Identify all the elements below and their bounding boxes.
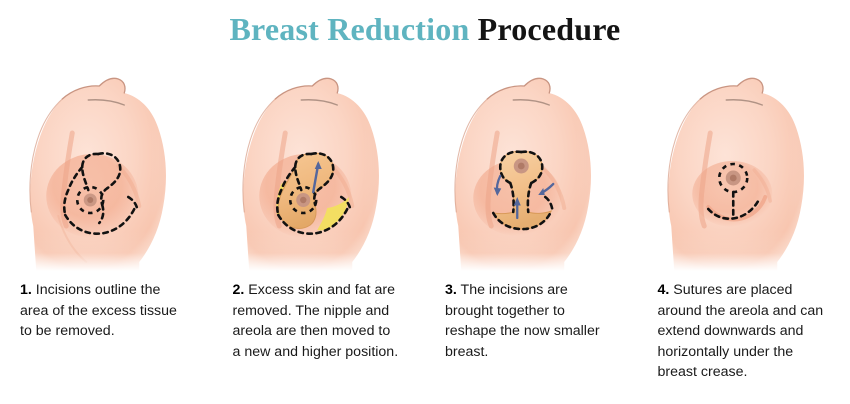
nipple	[518, 163, 525, 170]
title-accent-text: Breast Reduction	[230, 11, 470, 47]
caption-number-2: 2.	[233, 282, 245, 298]
caption-number-4: 4.	[658, 282, 670, 298]
illustration-step-4	[638, 66, 850, 271]
illustration-step-3	[425, 66, 638, 271]
nipple	[300, 197, 306, 203]
illustration-step-1	[0, 66, 213, 271]
bottom-edge-fade	[638, 231, 850, 271]
caption-step-4: 4. Sutures are placed around the areola …	[638, 280, 850, 400]
caption-number-1: 1.	[20, 282, 32, 298]
caption-text-1: Incisions outline the area of the excess…	[20, 282, 177, 339]
title-main-text: Procedure	[478, 11, 621, 47]
page-title: Breast Reduction Procedure	[0, 9, 850, 49]
caption-text-3: The incisions are brought together to re…	[445, 282, 600, 360]
nipple	[729, 175, 736, 182]
bottom-edge-fade	[0, 231, 212, 271]
illustration-panel-row	[0, 66, 850, 271]
caption-step-1: 1. Incisions outline the area of the exc…	[0, 280, 213, 400]
caption-text-4: Sutures are placed around the areola and…	[658, 282, 824, 380]
caption-step-3: 3. The incisions are brought together to…	[425, 280, 638, 400]
nipple	[87, 197, 93, 203]
caption-text-2: Excess skin and fat are removed. The nip…	[233, 282, 399, 360]
caption-step-2: 2. Excess skin and fat are removed. The …	[213, 280, 426, 400]
caption-row: 1. Incisions outline the area of the exc…	[0, 280, 850, 400]
bottom-edge-fade	[425, 231, 637, 271]
illustration-step-2	[213, 66, 426, 271]
breast-reduction-infographic: Breast Reduction Procedure	[0, 0, 850, 404]
caption-number-3: 3.	[445, 282, 457, 298]
bottom-edge-fade	[213, 231, 425, 271]
